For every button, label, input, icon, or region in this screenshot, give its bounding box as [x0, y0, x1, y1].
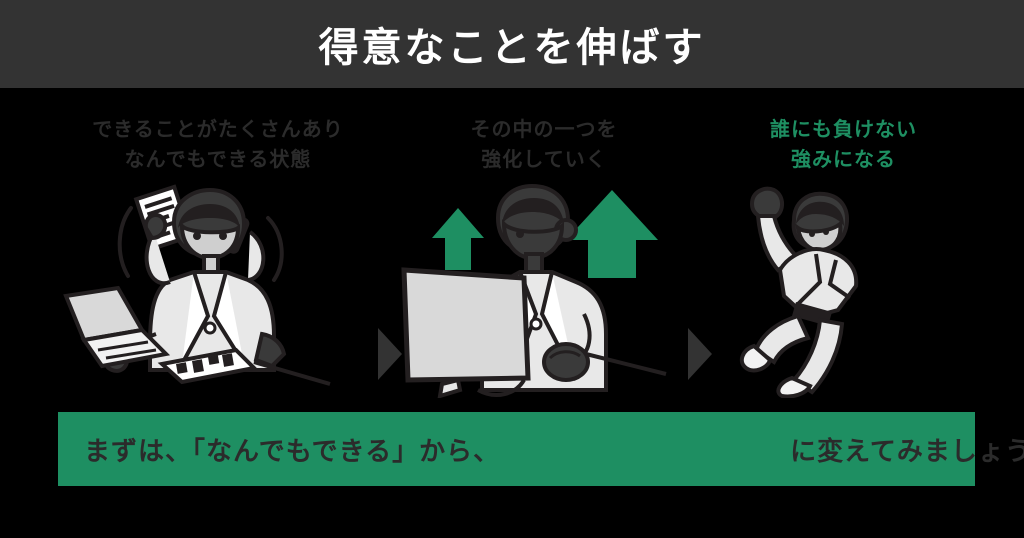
step-2-caption-line2: 強化していく — [400, 144, 688, 174]
step-1-caption-line2: なんでもできる状態 — [58, 144, 378, 174]
step-3-caption-line1: 誰にも負けない — [712, 114, 975, 144]
step-3: 誰にも負けない 強みになる — [712, 88, 975, 410]
step-1: できることがたくさんあり なんでもできる状態 — [58, 88, 378, 410]
person-at-monitor-with-arrows-illustration — [400, 184, 688, 398]
up-arrow-large — [566, 190, 658, 278]
up-arrow-small — [432, 208, 484, 270]
step-2: その中の一つを 強化していく — [400, 88, 688, 410]
page-title: 得意なことを伸ばす — [0, 0, 1024, 88]
steps-stage: できることがたくさんあり なんでもできる状態 — [0, 88, 1024, 410]
busy-multitasking-person-illustration — [58, 184, 378, 398]
step-3-caption-line2: 強みになる — [712, 144, 975, 174]
person-celebrating-illustration — [712, 184, 975, 398]
triangle-right-icon-2 — [688, 328, 712, 380]
step-1-caption-line1: できることがたくさんあり — [58, 114, 378, 144]
slide-canvas: 得意なことを伸ばす できることがたくさんあり なんでもできる状態 — [0, 0, 1024, 538]
summary-banner — [58, 412, 975, 486]
step-3-caption: 誰にも負けない 強みになる — [712, 114, 975, 174]
triangle-right-icon-1 — [378, 328, 402, 380]
step-2-caption: その中の一つを 強化していく — [400, 114, 688, 174]
step-1-caption: できることがたくさんあり なんでもできる状態 — [58, 114, 378, 174]
step-2-caption-line1: その中の一つを — [400, 114, 688, 144]
